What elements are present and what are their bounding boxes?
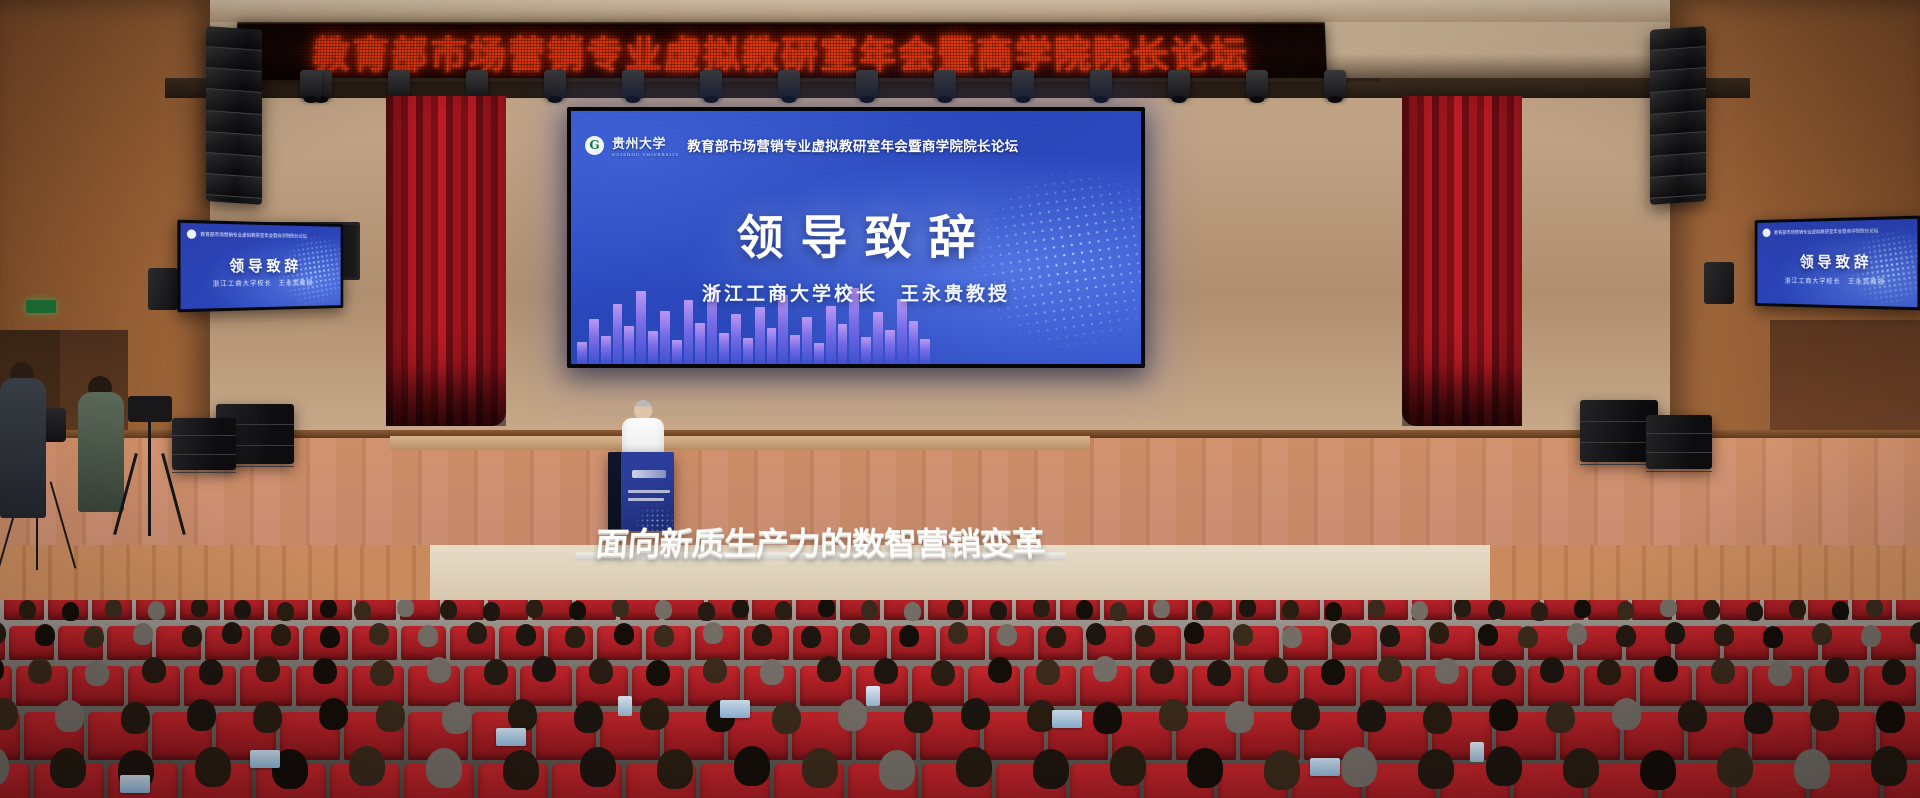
audience-member-head [947,600,964,618]
audience-member-head [142,657,166,683]
audience-member-head [1429,622,1449,644]
audience-member-head [532,656,556,682]
audience-laptop [120,775,150,793]
audience-member-head [133,623,153,645]
audience-member-head [732,600,749,618]
crew-member-2 [78,392,124,512]
audience-member-head [1703,600,1720,619]
audience-member-head [277,602,294,621]
stage-speaker-stack-left-2 [172,418,236,470]
screen-header-title: 教育部市场营销专业虚拟教研室年会暨商学院院长论坛 [687,135,1018,155]
audience-member-head [1325,602,1342,621]
side-screen-right-title: 领导致辞 [1757,251,1917,273]
podium-logo-icon [632,470,666,478]
audience-member-head [313,658,337,684]
org-name: 贵州大学 GUIZHOU UNIVERSITY [612,133,679,157]
audience-member-head [1076,600,1093,619]
audience-member-head [253,701,282,733]
floor-letters-text: 面向新质生产力的数智营销变革 [594,518,1047,564]
audience-member-head [1744,702,1773,734]
audience-member-head [1368,600,1385,618]
audience-member-head [1518,626,1538,648]
auditorium-photo: 教育部市场营销专业虚拟教研室年会暨商学院院长论坛 [0,0,1920,798]
audience-seat [1896,600,1920,620]
audience-member-head [1150,658,1174,684]
audience-member-head [1546,701,1575,733]
audience-member-head [84,626,104,648]
audience-member-head [1660,600,1677,617]
audience-member-head [772,702,801,734]
audience-member-head [199,659,223,685]
audience-member-head [654,625,674,647]
audience-member-head [427,657,451,683]
side-screen-right-header-title: 教育部市场营销专业虚拟教研室年会暨商学院院长论坛 [1774,228,1878,236]
audience-member-head [369,623,389,645]
audience-member-head [1540,657,1564,683]
spotlight-icon [778,70,800,100]
audience-member-head [997,624,1017,646]
audience-member-head [1763,626,1783,648]
audience-member-head [1711,658,1735,684]
audience-member-head [1871,746,1907,786]
audience-member-head [354,601,371,620]
audience-member-head [879,750,915,790]
audience-member-head [861,600,878,619]
audience-member-head [1110,602,1127,621]
audience-member-head [801,626,821,648]
presenter-figure [622,400,664,458]
audience-member-head [182,625,202,647]
audience-member-head [775,601,792,620]
audience-member-head [1264,750,1300,790]
audience-member-head [657,749,693,789]
spotlight-icon [856,70,878,100]
audience-member-head [904,701,933,733]
audience-member-head [646,660,670,686]
audience-member-head [569,601,586,620]
audience-member-head [1612,698,1641,730]
audience-member-head [1207,660,1231,686]
audience-member-head [222,622,242,644]
audience-member-head [256,656,280,682]
audience-member-head [442,702,471,734]
audience-member-head [752,624,772,646]
audience-member-head [1282,626,1302,648]
spotlight-icon [1246,70,1268,100]
audience-member-head [1768,660,1792,686]
audience-member-head [320,600,337,618]
audience-member-head [1036,659,1060,685]
audience-member-head [988,657,1012,683]
audience-member-head [899,625,919,647]
audience-member-head [467,622,487,644]
audience-member-head [1746,602,1763,621]
exit-sign-icon [26,300,56,313]
audience-member-head [1291,698,1320,730]
audience-member-head [838,699,867,731]
spotlight-icon [934,70,956,100]
audience-member-head [1196,601,1213,620]
audience-member-head [35,624,55,646]
audience-member-head [319,698,348,730]
spotlight-icon [700,70,722,100]
audience-member-head [195,747,231,787]
stage-curtain-right [1402,96,1522,426]
audience-member-head [1435,658,1459,684]
audience-laptop [496,728,526,746]
audience-member-head [121,702,150,734]
audience-member-head [1567,623,1587,645]
ceiling-soffit [150,0,1770,22]
side-screen-left: 教育部市场营销专业虚拟教研室年会暨商学院院长论坛 领导致辞 浙江工商大学校长 王… [177,220,343,313]
video-camera-2 [128,396,172,422]
audience-member-head [574,701,603,733]
audience-member-head [426,748,462,788]
audience-member-head [484,659,508,685]
spotlight-icon [300,70,322,100]
audience-member-head [418,625,438,647]
audience-member-head [1531,602,1548,621]
audience-seating-area [0,600,1920,798]
audience-member-head [1882,659,1906,685]
audience-member-head [640,698,669,730]
audience-member-head [1153,600,1170,618]
audience-member-head [1810,699,1839,731]
audience-member-head [850,623,870,645]
audience-member-head [956,747,992,787]
side-screen-right-subtitle: 浙江工商大学校长 王永贵教授 [1757,274,1917,286]
audience-member-head [760,659,784,685]
audience-member-head [817,656,841,682]
audience-member-head [1239,600,1256,617]
audience-member-head [271,624,291,646]
audience-member-head [148,601,165,620]
audience-member-head [565,626,585,648]
camera-tripod-2 [148,420,151,536]
org-name-cn: 贵州大学 [612,137,666,152]
side-screen-left-surface: 教育部市场营销专业虚拟教研室年会暨商学院院长论坛 领导致辞 浙江工商大学校长 王… [181,223,341,309]
audience-member-head [703,622,723,644]
audience-member-head [1478,624,1498,646]
audience-member-head [734,746,770,786]
audience-member-head [904,602,921,621]
audience-member-head [1110,746,1146,786]
audience-member-head [1033,749,1069,789]
screen-subtitle: 浙江工商大学校长 王永贵教授 [571,279,1141,306]
line-array-speaker-right [1650,26,1706,205]
audience-member-head [1086,623,1106,645]
audience-member-head [349,746,385,786]
truss-bar [300,78,1380,82]
audience-member-head [1654,656,1678,682]
side-screen-left-header: 教育部市场营销专业虚拟教研室年会暨商学院院长论坛 [187,229,336,241]
audience-member-head [503,750,539,790]
audience-member-head [1640,750,1676,790]
audience-member-head [1033,600,1050,617]
audience-member-head [1282,600,1299,619]
spotlight-icon [544,70,566,100]
audience-member-head [526,600,543,618]
spotlight-icon [1168,70,1190,100]
audience-member-head [516,624,536,646]
audience-member-head [440,600,457,619]
audience-member-head [187,699,216,731]
audience-member-head [990,601,1007,620]
audience-member-head [191,600,208,617]
audience-member-head [948,622,968,644]
guizhou-university-logo-icon: G [585,136,604,155]
audience-laptop [720,700,750,718]
audience-member-head [1665,622,1685,644]
side-screen-right: 教育部市场营销专业虚拟教研室年会暨商学院院长论坛 领导致辞 浙江工商大学校长 王… [1755,216,1920,311]
audience-member-head [1331,623,1351,645]
audience-member-head [1321,659,1345,685]
audience-member-head [1574,600,1591,618]
audience-member-head [370,660,394,686]
stage-curtain-left [386,96,506,426]
audience-member-head [1714,624,1734,646]
audience-member-head [580,747,616,787]
audience-member-head [655,600,672,619]
main-screen-surface: G 贵州大学 GUIZHOU UNIVERSITY 教育部市场营销专业虚拟教研室… [571,111,1141,364]
audience-member-head [50,748,86,788]
wall-speaker-left [148,268,178,310]
audience-member-head [85,660,109,686]
audience-member-head [931,660,955,686]
audience-member-head [1489,699,1518,731]
line-array-speaker-left [206,26,262,205]
audience-member-head [1861,625,1881,647]
audience-member-head [1135,625,1155,647]
audience-member-head [1225,701,1254,733]
audience-member-head [1380,625,1400,647]
audience-member-head [1488,600,1505,619]
side-screen-left-title: 领导致辞 [181,254,341,276]
audience-member-head [612,600,629,617]
audience-member-head [1563,748,1599,788]
audience-member-head [1617,601,1634,620]
audience-member-head [1233,624,1253,646]
crew-member-1 [0,378,46,518]
audience-member-head [1411,601,1428,620]
audience-member-head [1876,701,1905,733]
spotlight-icon [1324,70,1346,100]
audience-member-head [1184,622,1204,644]
audience-member-head [483,602,500,621]
audience-member-head [1717,747,1753,787]
spotlight-icon [1012,70,1034,100]
audience-member-head [1378,656,1402,682]
audience-member-head [397,600,414,617]
stage-front-lip [390,436,1090,450]
audience-laptop [250,750,280,768]
audience-phone [618,696,632,716]
audience-member-head [1046,626,1066,648]
audience-member-head [1187,748,1223,788]
audience-member-head [703,657,727,683]
audience-phone [1470,742,1484,762]
screen-main-title: 领导致辞 [571,199,1141,268]
audience-member-head [508,699,537,731]
audience-member-head [1093,656,1117,682]
audience-member-head [1597,659,1621,685]
audience-member-head [1341,747,1377,787]
audience-phone [866,686,880,706]
audience-member-head [1832,601,1849,620]
side-screen-right-surface: 教育部市场营销专业虚拟教研室年会暨商学院院长论坛 领导致辞 浙江工商大学校长 王… [1757,219,1917,307]
audience-member-head [1812,623,1832,645]
guizhou-university-logo-icon [1763,228,1771,237]
audience-member-head [1678,700,1707,732]
audience-laptop [1310,758,1340,776]
audience-member-head [28,658,52,684]
audience-member-head [105,600,122,618]
audience-member-head [1486,746,1522,786]
spotlight-icon [1090,70,1112,100]
audience-member-head [1423,702,1452,734]
audience-laptop [1052,710,1082,728]
audience-member-head [1616,625,1636,647]
audience-member-head [19,600,36,619]
floor-3d-lettering: 面向新质生产力的数智营销变革 [568,521,1073,561]
audience-member-head [234,600,251,619]
audience-member-head [614,623,634,645]
stage-speaker-stack-right-2 [1646,415,1712,469]
audience-member-head [874,658,898,684]
audience-member-head [320,626,340,648]
screen-header: G 贵州大学 GUIZHOU UNIVERSITY 教育部市场营销专业虚拟教研室… [585,133,1129,157]
audience-member-head [62,602,79,621]
presenter-head [634,400,652,420]
audience-member-head [589,658,613,684]
main-presentation-screen: G 贵州大学 GUIZHOU UNIVERSITY 教育部市场营销专业虚拟教研室… [567,107,1145,368]
org-name-en: GUIZHOU UNIVERSITY [612,152,679,157]
audience-member-head [1794,749,1830,789]
audience-member-head [1789,600,1806,618]
audience-member-head [1093,702,1122,734]
audience-member-head [1492,660,1516,686]
audience-member-head [1866,600,1883,617]
audience-member-head [818,600,835,617]
audience-member-head [698,602,715,621]
audience-member-head [961,698,990,730]
audience-member-head [1159,699,1188,731]
audience-member-head [802,748,838,788]
audience-member-head [1910,622,1920,644]
wall-speaker-right [1704,262,1734,304]
audience-member-head [1264,657,1288,683]
audience-member-head [1454,600,1471,617]
audience-member-head [376,700,405,732]
spotlight-icon [622,70,644,100]
side-screen-left-header-title: 教育部市场营销专业虚拟教研室年会暨商学院院长论坛 [200,231,307,239]
audience-member-head [55,700,84,732]
audience-member-head [1357,700,1386,732]
audience-member-head [1418,749,1454,789]
audience-member-head [1825,657,1849,683]
guizhou-university-logo-icon [187,229,196,239]
